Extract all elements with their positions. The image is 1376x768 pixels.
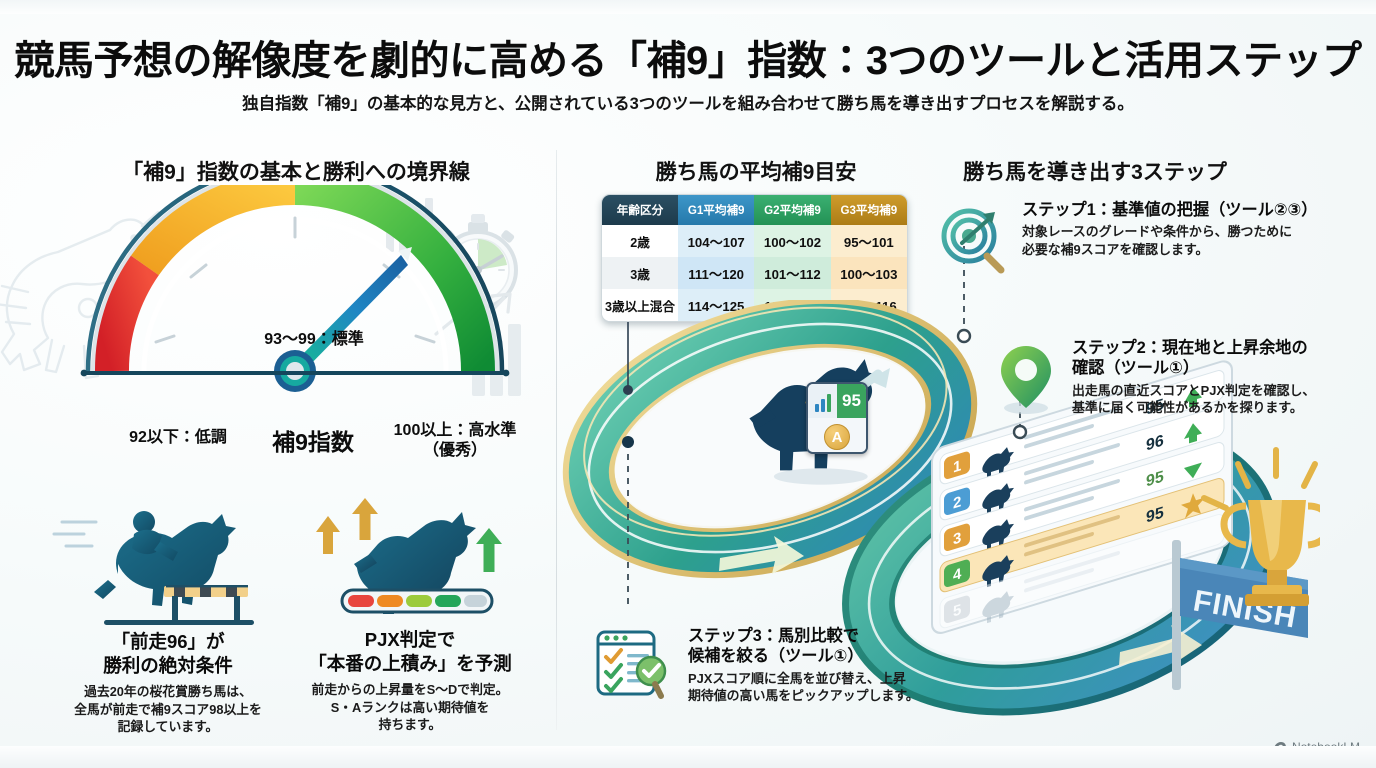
cell-g2: 101〜112 bbox=[754, 257, 830, 289]
map-pin-icon bbox=[995, 342, 1057, 420]
svg-text:1: 1 bbox=[953, 457, 962, 476]
svg-text:2: 2 bbox=[953, 493, 961, 512]
cell-g3: 95〜101 bbox=[831, 225, 907, 257]
step-2-body: 出走馬の直近スコアとPJX判定を確認し、 基準に届く可能性があるかを探ります。 bbox=[1072, 382, 1372, 417]
step-1-body: 対象レースのグレードや条件から、勝つために 必要な補9スコアを確認します。 bbox=[1022, 223, 1367, 258]
hojo9-gauge: 93〜99：標準 補9指数 92以下：低調 100以上：高水準 （優秀） bbox=[60, 185, 530, 420]
checklist-magnifier-icon bbox=[594, 628, 674, 700]
rising-horse-icon bbox=[290, 498, 530, 624]
svg-text:4: 4 bbox=[953, 565, 962, 584]
step-2-heading: ステップ2：現在地と上昇余地の 確認（ツール①） bbox=[1072, 338, 1372, 379]
table-row: 3歳 111〜120 101〜112 100〜103 bbox=[602, 257, 907, 289]
gauge-label-standard: 93〜99：標準 bbox=[224, 325, 404, 349]
pjx-meter bbox=[342, 590, 492, 612]
section-divider bbox=[556, 150, 557, 730]
section-heading-table: 勝ち馬の平均補9目安 bbox=[606, 156, 906, 186]
card1-art bbox=[48, 500, 288, 626]
step-1: ステップ1：基準値の把握（ツール②③） 対象レースのグレードや条件から、勝つため… bbox=[1022, 200, 1367, 259]
step-2: ステップ2：現在地と上昇余地の 確認（ツール①） 出走馬の直近スコアとPJX判定… bbox=[1072, 338, 1372, 417]
cell-g1: 104〜107 bbox=[678, 225, 754, 257]
notebooklm-icon bbox=[1272, 741, 1287, 754]
card2-body: 前走からの上昇量をS〜Dで判定。 S・Aランクは高い期待値を 持ちます。 bbox=[290, 681, 530, 734]
section-heading-steps: 勝ち馬を導き出す3ステップ bbox=[925, 156, 1265, 186]
section-heading-gauge: 「補9」指数の基本と勝利への境界線 bbox=[86, 156, 506, 186]
card-pjx: PJX判定で 「本番の上積み」を予測 前走からの上昇量をS〜Dで判定。 S・Aラ… bbox=[290, 498, 530, 734]
bar-chart-icon bbox=[808, 384, 837, 418]
page-subtitle: 独自指数「補9」の基本的な見方と、公開されている3つのツールを組み合わせて勝ち馬… bbox=[0, 90, 1376, 114]
step-3-body: PJXスコア順に全馬を並び替え、上昇 期待値の高い馬をピックアップします。 bbox=[688, 670, 1018, 705]
svg-text:3: 3 bbox=[953, 529, 961, 548]
horse-score-badge: 95 A bbox=[806, 382, 868, 454]
table-header-row: 年齢区分 G1平均補9 G2平均補9 G3平均補9 bbox=[602, 195, 907, 225]
page-title: 競馬予想の解像度を劇的に高める「補9」指数：3つのツールと活用ステップ bbox=[0, 28, 1376, 86]
badge-rank-value: A bbox=[824, 424, 850, 450]
gauge-needle bbox=[274, 247, 412, 392]
watermark-label: NotebookLM bbox=[1292, 740, 1360, 754]
cell-g3: 100〜103 bbox=[831, 257, 907, 289]
step-3: ステップ3：馬別比較で 候補を絞る（ツール①） PJXスコア順に全馬を並び替え、… bbox=[688, 626, 1018, 705]
card1-heading: 「前走96」が 勝利の絶対条件 bbox=[48, 630, 288, 678]
table-col-g2: G2平均補9 bbox=[754, 195, 830, 225]
cell-g1: 111〜120 bbox=[678, 257, 754, 289]
cell-age: 3歳 bbox=[602, 257, 678, 289]
badge-score-value: 95 bbox=[837, 384, 866, 418]
infographic-canvas: 競馬予想の解像度を劇的に高める「補9」指数：3つのツールと活用ステップ 独自指数… bbox=[0, 0, 1376, 768]
cell-g2: 100〜102 bbox=[754, 225, 830, 257]
card2-heading: PJX判定で 「本番の上積み」を予測 bbox=[290, 628, 530, 676]
gauge-label-high: 100以上：高水準 （優秀） bbox=[360, 421, 550, 460]
card1-body: 過去20年の桜花賞勝ち馬は、 全馬が前走で補9スコア98以上を 記録しています。 bbox=[48, 683, 288, 736]
gauge-label-low: 92以下：低調 bbox=[88, 423, 268, 447]
target-magnifier-icon bbox=[938, 206, 1008, 276]
card-zenso96: 「前走96」が 勝利の絶対条件 過去20年の桜花賞勝ち馬は、 全馬が前走で補9ス… bbox=[48, 500, 288, 736]
jumping-horse-icon bbox=[48, 500, 288, 626]
card2-art bbox=[290, 498, 530, 624]
table-col-g1: G1平均補9 bbox=[678, 195, 754, 225]
step-3-heading: ステップ3：馬別比較で 候補を絞る（ツール①） bbox=[688, 626, 1018, 667]
gauge-dial bbox=[60, 185, 530, 420]
watermark: NotebookLM bbox=[1272, 740, 1360, 754]
table-row: 2歳 104〜107 100〜102 95〜101 bbox=[602, 225, 907, 257]
svg-text:5: 5 bbox=[953, 601, 962, 620]
table-col-g3: G3平均補9 bbox=[831, 195, 907, 225]
cell-age: 2歳 bbox=[602, 225, 678, 257]
step-1-heading: ステップ1：基準値の把握（ツール②③） bbox=[1022, 200, 1367, 220]
table-col-age: 年齢区分 bbox=[602, 195, 678, 225]
